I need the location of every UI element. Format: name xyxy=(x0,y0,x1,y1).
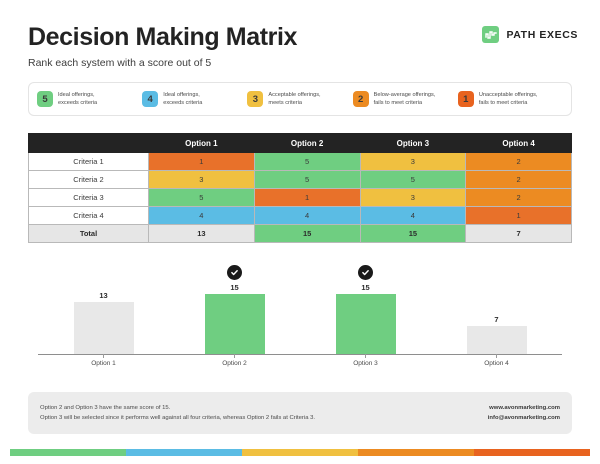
table-total-label: Total xyxy=(29,225,149,243)
table-score-cell: 3 xyxy=(360,189,466,207)
infographic-page: Decision Making Matrix Rank each system … xyxy=(0,0,600,464)
chart-bars: 1315157 xyxy=(38,258,562,354)
legend-item-label: Ideal offerings, exceeds criteria xyxy=(163,91,202,108)
axis-tick-mark xyxy=(365,354,366,358)
color-bar-segment xyxy=(126,449,242,456)
table-score-cell: 1 xyxy=(149,153,255,171)
decision-matrix-table: Option 1Option 2Option 3Option 4 Criteri… xyxy=(28,133,572,243)
color-bar-segment xyxy=(242,449,358,456)
table-row-label: Criteria 1 xyxy=(29,153,149,171)
color-bar-segment xyxy=(358,449,474,456)
footer-note: Option 2 and Option 3 have the same scor… xyxy=(40,403,315,424)
legend-item-label: Below-average offerings, fails to meet c… xyxy=(374,91,436,108)
table-total-row: Total1315157 xyxy=(29,225,572,243)
bar-group: 7 xyxy=(431,258,562,354)
axis-tick-label: Option 2 xyxy=(169,360,300,367)
check-icon xyxy=(358,265,373,280)
axis-tick: Option 1 xyxy=(38,354,169,367)
legend-score-badge: 4 xyxy=(142,91,158,107)
table-body: Criteria 11532Criteria 23552Criteria 351… xyxy=(29,153,572,243)
color-bar-segment xyxy=(10,449,126,456)
table-score-cell: 3 xyxy=(360,153,466,171)
table-column-header: Option 1 xyxy=(149,134,255,153)
table-row: Criteria 35132 xyxy=(29,189,572,207)
bar-value-label: 13 xyxy=(99,291,107,300)
legend-item-label: Unacceptable offerings, fails to meet cr… xyxy=(479,91,538,108)
table-column-header: Option 4 xyxy=(466,134,572,153)
legend-item-1: 1Unacceptable offerings, fails to meet c… xyxy=(458,91,563,108)
bar-value-label: 7 xyxy=(494,315,498,324)
pulse-waveform-icon xyxy=(482,26,499,43)
table-score-cell: 3 xyxy=(149,171,255,189)
table-row: Criteria 23552 xyxy=(29,171,572,189)
bar-value-label: 15 xyxy=(230,283,238,292)
table-score-cell: 5 xyxy=(149,189,255,207)
bar-rect xyxy=(467,326,527,354)
axis-tick-label: Option 1 xyxy=(38,360,169,367)
table-row-label: Criteria 4 xyxy=(29,207,149,225)
table-score-cell: 1 xyxy=(466,207,572,225)
bar-group: 13 xyxy=(38,258,169,354)
bar-rect xyxy=(205,294,265,354)
table-score-cell: 2 xyxy=(466,153,572,171)
table-total-cell: 15 xyxy=(254,225,360,243)
check-icon xyxy=(227,265,242,280)
table-total-cell: 7 xyxy=(466,225,572,243)
table-score-cell: 4 xyxy=(254,207,360,225)
table-total-cell: 15 xyxy=(360,225,466,243)
axis-tick-label: Option 3 xyxy=(300,360,431,367)
footer-contact: www.avonmarketing.com info@avonmarketing… xyxy=(488,403,560,424)
table-score-cell: 2 xyxy=(466,189,572,207)
legend-score-badge: 3 xyxy=(247,91,263,107)
legend-item-label: Acceptable offerings, meets criteria xyxy=(268,91,320,108)
legend-item-3: 3Acceptable offerings, meets criteria xyxy=(247,91,352,108)
legend-item-5: 5Ideal offerings, exceeds criteria xyxy=(37,91,142,108)
table-corner-cell xyxy=(29,134,149,153)
table-column-header: Option 2 xyxy=(254,134,360,153)
page-subtitle: Rank each system with a score out of 5 xyxy=(28,57,578,69)
bar-rect xyxy=(74,302,134,354)
brand-name: PATH EXECS xyxy=(506,29,578,41)
table-score-cell: 5 xyxy=(254,171,360,189)
chart-axis-labels: Option 1Option 2Option 3Option 4 xyxy=(38,354,562,370)
table-total-cell: 13 xyxy=(149,225,255,243)
bar-rect xyxy=(336,294,396,354)
page-header: Decision Making Matrix Rank each system … xyxy=(28,24,578,80)
color-bar-segment xyxy=(474,449,590,456)
axis-tick-mark xyxy=(496,354,497,358)
axis-tick: Option 4 xyxy=(431,354,562,367)
bar-group: 15 xyxy=(300,258,431,354)
bottom-color-bar xyxy=(10,449,590,456)
axis-tick: Option 2 xyxy=(169,354,300,367)
footer-panel: Option 2 and Option 3 have the same scor… xyxy=(28,392,572,434)
score-legend: 5Ideal offerings, exceeds criteria4Ideal… xyxy=(28,82,572,116)
axis-tick-mark xyxy=(234,354,235,358)
legend-item-4: 4Ideal offerings, exceeds criteria xyxy=(142,91,247,108)
totals-bar-chart: 1315157 Option 1Option 2Option 3Option 4 xyxy=(38,258,562,370)
table-score-cell: 4 xyxy=(360,207,466,225)
axis-tick-mark xyxy=(103,354,104,358)
legend-item-2: 2Below-average offerings, fails to meet … xyxy=(353,91,458,108)
table-column-header: Option 3 xyxy=(360,134,466,153)
table-score-cell: 2 xyxy=(466,171,572,189)
legend-score-badge: 5 xyxy=(37,91,53,107)
table-score-cell: 1 xyxy=(254,189,360,207)
axis-tick: Option 3 xyxy=(300,354,431,367)
legend-item-label: Ideal offerings, exceeds criteria xyxy=(58,91,97,108)
table-row: Criteria 44441 xyxy=(29,207,572,225)
legend-score-badge: 2 xyxy=(353,91,369,107)
bar-group: 15 xyxy=(169,258,300,354)
table-score-cell: 4 xyxy=(149,207,255,225)
brand-logo: PATH EXECS xyxy=(482,26,578,43)
bar-value-label: 15 xyxy=(361,283,369,292)
axis-tick-label: Option 4 xyxy=(431,360,562,367)
table-header: Option 1Option 2Option 3Option 4 xyxy=(29,134,572,153)
table-row-label: Criteria 3 xyxy=(29,189,149,207)
table-score-cell: 5 xyxy=(254,153,360,171)
legend-score-badge: 1 xyxy=(458,91,474,107)
table-score-cell: 5 xyxy=(360,171,466,189)
table-row: Criteria 11532 xyxy=(29,153,572,171)
table-row-label: Criteria 2 xyxy=(29,171,149,189)
